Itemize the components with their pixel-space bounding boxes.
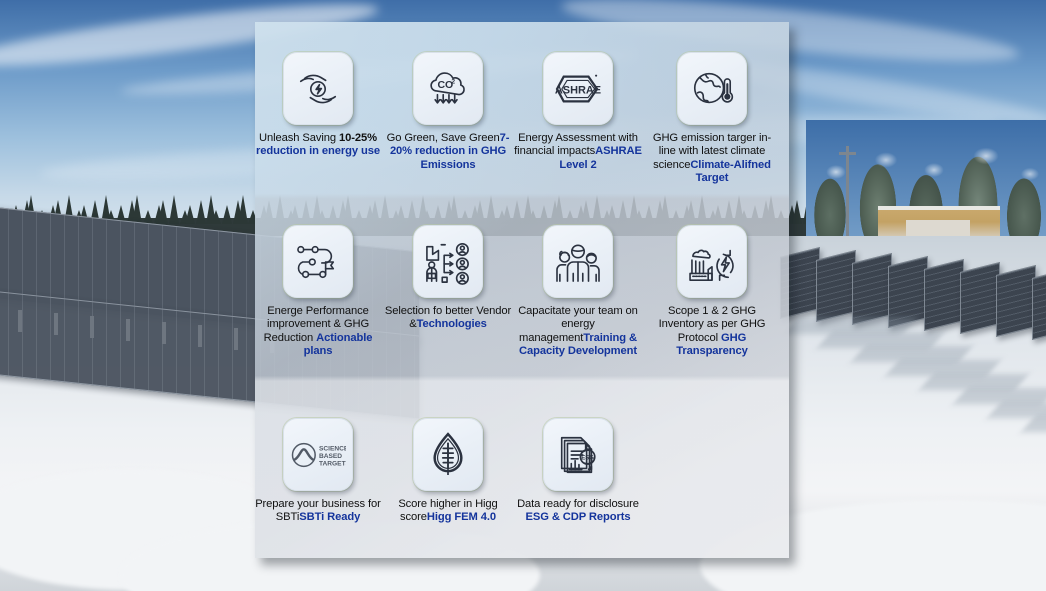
benefit-card[interactable]: SCIENCE BASED TARGETSPrepare your busine… <box>255 418 383 525</box>
benefit-card-caption: Capacitate your team on energy managemen… <box>513 305 643 359</box>
caption-segment: Go Green, Save Green <box>387 132 500 144</box>
benefit-card[interactable]: Capacitate your team on energy managemen… <box>513 225 643 359</box>
benefit-card-caption: Score higher in Higg scoreHigg FEM 4.0 <box>383 498 513 525</box>
caption-segment: Unleash Saving <box>259 132 339 144</box>
caption-segment: Technologies <box>417 318 487 330</box>
caption-segment: Scope 1 & 2 GHG Inventory as per GHG Pro… <box>659 305 766 344</box>
svg-text:TARGETS: TARGETS <box>319 460 346 467</box>
caption-segment: SBTi Ready <box>299 511 360 523</box>
caption-segment: Climate-Alifned Target <box>690 159 771 184</box>
hands-holding-energy-icon <box>283 52 353 125</box>
cabin-building <box>878 206 1000 240</box>
svg-text:SCIENCE: SCIENCE <box>319 445 346 452</box>
esg-reports-icon: ESG <box>543 418 613 491</box>
benefit-card[interactable]: Scope 1 & 2 GHG Inventory as per GHG Pro… <box>647 225 777 359</box>
team-people-icon <box>543 225 613 298</box>
benefit-card[interactable]: ESGData ready for disclosure ESG & CDP R… <box>513 418 643 525</box>
svg-text:BASED: BASED <box>319 452 342 459</box>
caption-segment: ESG & CDP Reports <box>525 511 630 523</box>
caption-segment: 10-25% <box>339 132 377 144</box>
benefit-card-caption: Energy Assessment with financial impacts… <box>513 132 643 172</box>
svg-text:ESG: ESG <box>581 455 594 461</box>
benefit-card[interactable]: GHG emission targer in-line with latest … <box>647 52 777 186</box>
benefit-card[interactable]: Selection fo better Vendor &Technologies <box>383 225 513 332</box>
utility-pole <box>846 146 849 238</box>
science-based-targets-icon: SCIENCE BASED TARGETS <box>283 418 353 491</box>
benefit-card[interactable]: Unleash Saving 10-25% reduction in energ… <box>255 52 383 159</box>
benefit-card-caption: Selection fo better Vendor &Technologies <box>383 305 513 332</box>
benefit-card-caption: Prepare your business for SBTiSBTi Ready <box>255 498 383 525</box>
benefit-card-caption: Energe Performance improvement & GHG Red… <box>255 305 383 359</box>
benefit-card-grid: Unleash Saving 10-25% reduction in energ… <box>255 22 789 558</box>
benefit-card[interactable]: Energe Performance improvement & GHG Red… <box>255 225 383 359</box>
benefit-card-caption: GHG emission targer in-line with latest … <box>647 132 777 186</box>
ashrae-logo-icon: ASHRAE <box>543 52 613 125</box>
infographic-panel: Unleash Saving 10-25% reduction in energ… <box>255 22 789 558</box>
leaf-score-icon <box>413 418 483 491</box>
co2-cloud-icon: CO 2 <box>413 52 483 125</box>
benefit-card[interactable]: Score higher in Higg scoreHigg FEM 4.0 <box>383 418 513 525</box>
factory-energy-icon <box>677 225 747 298</box>
benefit-card-caption: Go Green, Save Green7-20% reduction in G… <box>383 132 513 172</box>
roadmap-flag-icon <box>283 225 353 298</box>
caption-segment: reduction in energy use <box>256 145 380 157</box>
benefit-card-caption: Unleash Saving 10-25% reduction in energ… <box>255 132 383 159</box>
vendor-selection-icon <box>413 225 483 298</box>
svg-text:2: 2 <box>451 78 455 85</box>
globe-thermometer-icon <box>677 52 747 125</box>
benefit-card[interactable]: ASHRAE Energy Assessment with financial … <box>513 52 643 172</box>
svg-text:ASHRAE: ASHRAE <box>555 84 601 96</box>
caption-segment: Higg FEM 4.0 <box>427 511 496 523</box>
caption-segment: Data ready for disclosure <box>517 498 639 510</box>
benefit-card[interactable]: CO 2 Go Green, Save Green7-20% reduction… <box>383 52 513 172</box>
benefit-card-caption: Data ready for disclosure ESG & CDP Repo… <box>513 498 643 525</box>
benefit-card-caption: Scope 1 & 2 GHG Inventory as per GHG Pro… <box>647 305 777 359</box>
